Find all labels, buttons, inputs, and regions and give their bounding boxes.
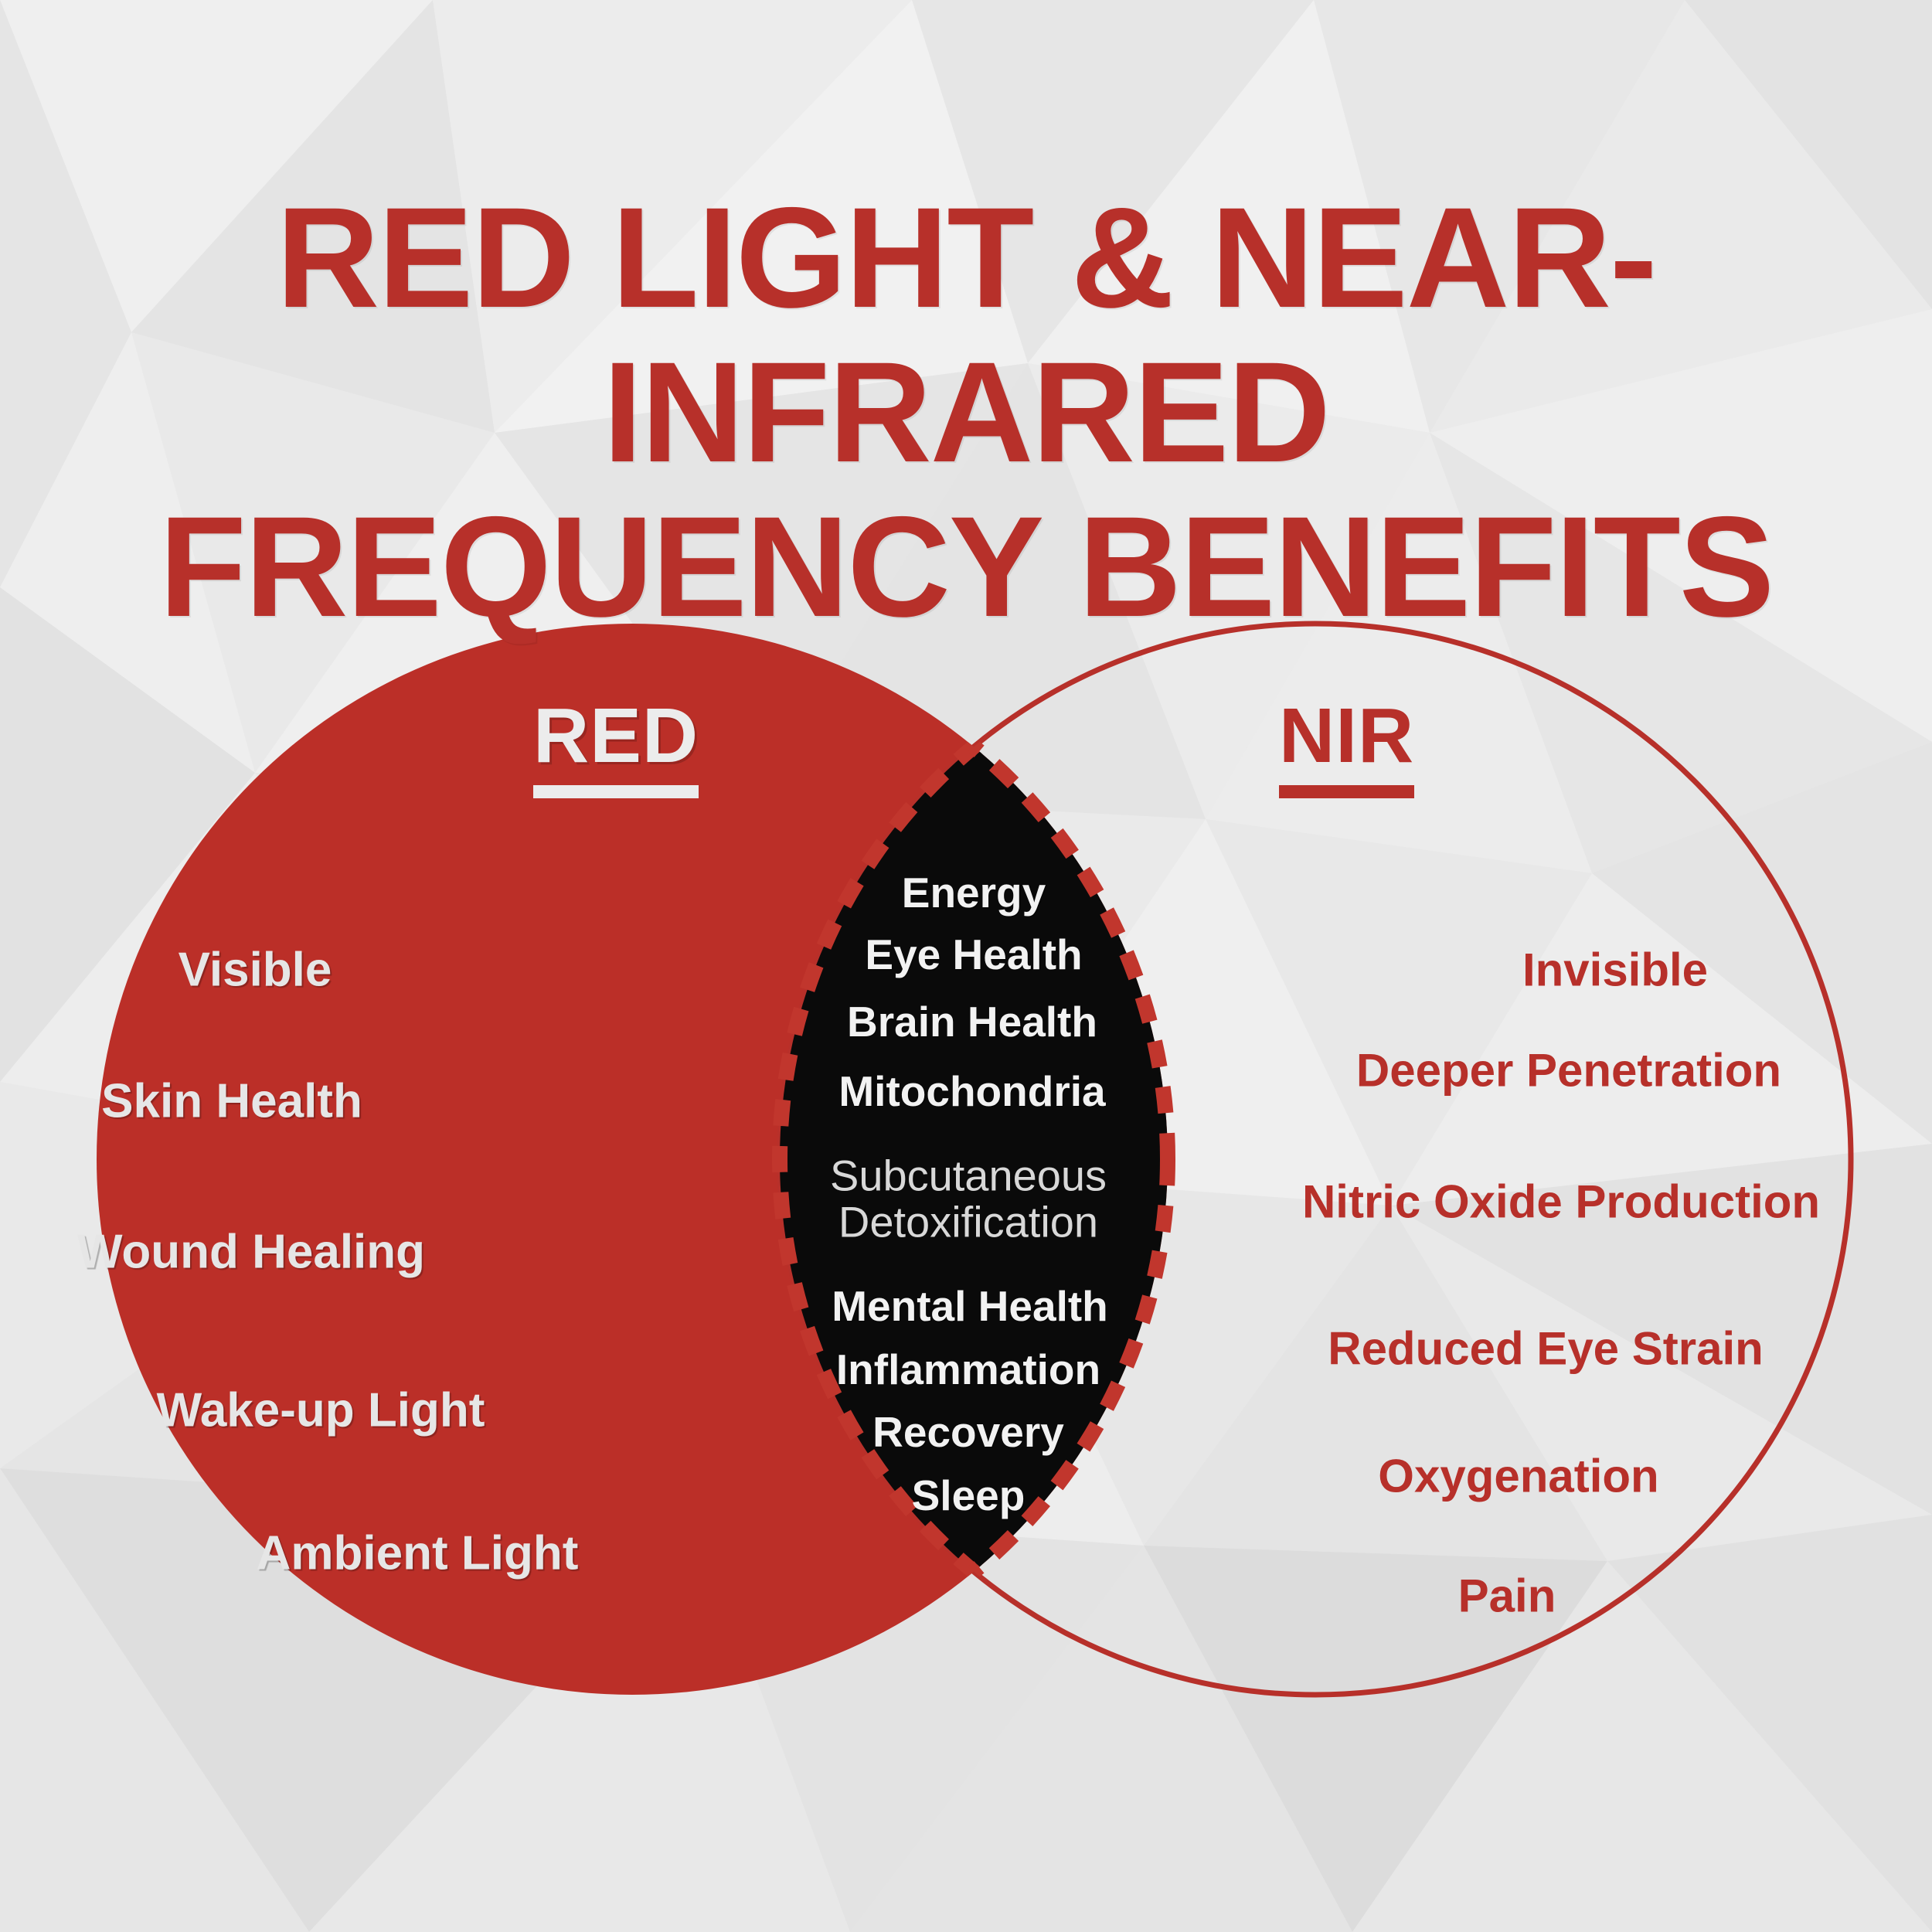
red-item-wake-up-light: Wake-up Light <box>157 1383 485 1438</box>
shared-item-mental-health: Mental Health <box>832 1281 1108 1331</box>
shared-item-mitochondria: Mitochondria <box>838 1066 1105 1116</box>
red-item-ambient-light: Ambient Light <box>257 1526 579 1581</box>
shared-item-recovery: Recovery <box>872 1407 1064 1457</box>
nir-item-deeper-penetration: Deeper Penetration <box>1356 1044 1781 1097</box>
shared-item-sleep: Sleep <box>912 1471 1026 1520</box>
shared-item-subcutaneous-detoxification: Subcutaneous Detoxification <box>830 1153 1107 1247</box>
red-item-visible: Visible <box>179 943 332 998</box>
nir-item-invisible: Invisible <box>1522 944 1708 997</box>
infographic-poster: RED LIGHT & NEAR-INFRARED FREQUENCY BENE… <box>0 0 1932 1932</box>
red-item-wound-healing: Wound Healing <box>77 1225 425 1280</box>
nir-heading-label: NIR <box>1279 692 1414 779</box>
shared-item-energy: Energy <box>902 868 1046 917</box>
shared-item-brain-health: Brain Health <box>847 997 1097 1046</box>
red-item-skin-health: Skin Health <box>101 1074 362 1129</box>
venn-labels-layer: RED NIR Visible Skin Health Wound Healin… <box>0 0 1932 1932</box>
nir-item-pain: Pain <box>1458 1570 1556 1623</box>
red-heading-label: RED <box>533 692 699 779</box>
shared-item-inflammation: Inflammation <box>836 1345 1100 1394</box>
nir-circle-heading: NIR <box>1279 692 1414 798</box>
nir-item-reduced-eye-strain: Reduced Eye Strain <box>1328 1322 1764 1376</box>
shared-item-subcutaneous-line-2: Detoxification <box>830 1199 1107 1246</box>
nir-item-nitric-oxide-production: Nitric Oxide Production <box>1302 1175 1820 1229</box>
nir-item-oxygenation: Oxygenation <box>1378 1450 1658 1503</box>
nir-heading-underline <box>1279 785 1414 798</box>
shared-item-subcutaneous-line-1: Subcutaneous <box>830 1153 1107 1199</box>
red-circle-heading: RED <box>533 692 699 798</box>
red-heading-underline <box>533 785 699 798</box>
shared-item-eye-health: Eye Health <box>865 930 1082 979</box>
